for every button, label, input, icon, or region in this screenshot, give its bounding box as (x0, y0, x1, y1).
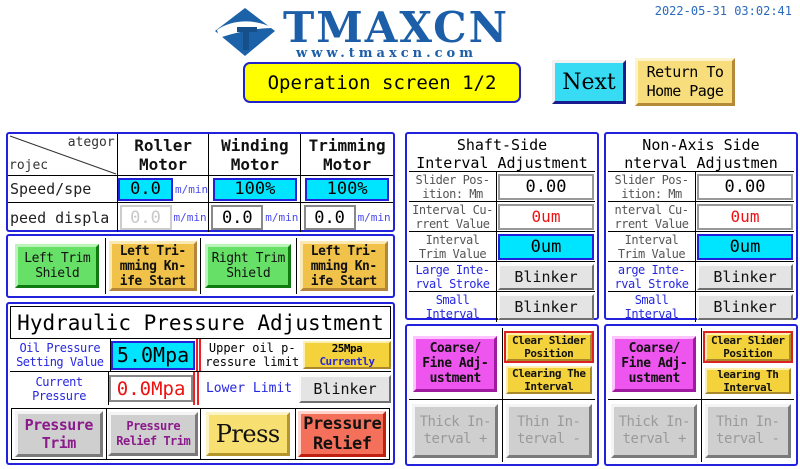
label-nonaxis-interval-current: nterval Cu- rrent Value (608, 202, 696, 231)
column-header-roller-motor: Roller Motor (118, 134, 210, 176)
hydraulic-row-current-pressure: Current Pressure 0.0Mpa Lower Limit Blin… (10, 372, 391, 405)
shaft-small-interval-blinker[interactable]: Blinker (498, 294, 594, 320)
motor-row-speed-display: peed displa 0.0 m/min 0.0 m/min 0.0 m/mi… (8, 203, 393, 232)
motor-parameter-table: ategor rojec Roller Motor Winding Motor … (6, 132, 395, 232)
cell-shaft-slider-position: 0.00 (497, 172, 595, 201)
nonaxis-coarse-fine-adjustment-button[interactable]: Coarse/ Fine Adj- ustment (612, 336, 696, 392)
cell-shaft-interval-trim[interactable]: 0um (497, 232, 595, 261)
btn-line1: Thick In- (619, 414, 690, 431)
shaft-row-interval-trim: Interval Trim Value 0um (409, 232, 595, 262)
tmaxcn-diamond-logo (213, 6, 277, 58)
col-head-line1: Roller (134, 136, 192, 155)
cell-pressure-relief-trim: Pressure Relief Trim (107, 409, 202, 459)
btn-line1: learing Th (717, 368, 778, 381)
btn-line2: terval + (424, 431, 487, 448)
shaft-thick-interval-increase-button[interactable]: Thick In- terval + (412, 404, 498, 458)
trimming-speed-setting-value[interactable]: 100% (305, 178, 389, 201)
btn-line2: terval - (716, 431, 779, 448)
title-line2: Interval Adjustment (416, 154, 588, 172)
cell-pressure-trim: Pressure Trim (12, 409, 107, 459)
non-axis-side-interval-panel: Non-Axis Side nterval Adjustmen Slider P… (604, 132, 798, 320)
label-line2: Trim Value (618, 247, 685, 261)
cell-nonaxis-clear-buttons: Clear Slider Position learing Th Interva… (702, 328, 795, 399)
header-bar: TMAXCN www.tmaxcn.com 2022-05-31 03:02:4… (0, 0, 800, 122)
cell-current-pressure-value: 0.0Mpa (109, 372, 193, 405)
nonaxis-thick-interval-increase-button[interactable]: Thick In- terval + (611, 404, 697, 458)
cell-left-trimming-knife-start: Left Tri- mming Kn- ife Start (106, 238, 202, 294)
column-header-trimming-motor: Trimming Motor (301, 134, 393, 176)
label-line1: Current (36, 375, 83, 389)
cell-winding-speed-display: 0.0 m/min (209, 203, 301, 232)
label-line2: ition: Mm (422, 187, 483, 201)
col-head-line1: Trimming (309, 136, 386, 155)
label-line1: Slider Pos- (416, 173, 490, 187)
shaft-side-interval-panel: Shaft-Side Interval Adjustment Slider Po… (405, 132, 599, 320)
nonaxis-large-interval-blinker[interactable]: Blinker (697, 264, 793, 290)
trimming-speed-display-value: 0.0 (304, 205, 356, 230)
col-head-line2: Motor (139, 155, 187, 174)
shaft-clearing-the-interval-button[interactable]: Clearing The Interval (506, 366, 592, 394)
btn-line2: Position (524, 347, 573, 360)
cell-nonaxis-small-interval-blinker[interactable]: Blinker (696, 292, 794, 322)
nonaxis-clear-slider-position-button[interactable]: Clear Slider Position (705, 333, 791, 361)
label-shaft-large-interval-stroke: Large Inte- rval Stroke (409, 262, 497, 291)
datetime-display: 2022-05-31 03:02:41 (655, 4, 792, 18)
btn-line3: ustment (430, 371, 481, 386)
nonaxis-slider-position-value: 0.00 (697, 174, 793, 200)
label-upper-oil-pressure-limit: Upper oil p- ressure limit (201, 339, 303, 371)
trimming-display-unit: m/min (358, 211, 391, 224)
upper-limit-value: 25Mpa (332, 342, 363, 355)
non-axis-side-button-panel: Coarse/ Fine Adj- ustment Clear Slider P… (604, 324, 798, 466)
btn-line2: terval - (517, 431, 580, 448)
winding-speed-setting-value[interactable]: 100% (213, 178, 297, 201)
btn-line1: Pressure (303, 414, 381, 434)
label-line1: arge Inte- (618, 263, 685, 277)
cell-nonaxis-slider-position: 0.00 (696, 172, 794, 201)
current-pressure-value: 0.0Mpa (109, 375, 193, 402)
btn-line2: terval + (623, 431, 686, 448)
label-line1: Small (635, 293, 669, 307)
cell-shaft-interval-current: 0um (497, 202, 595, 231)
row-label-speed-display: peed displa (8, 203, 118, 232)
label-line2: Pressure (32, 389, 86, 403)
btn-line1: Thin In- (716, 414, 779, 431)
btn-line2: Shield (35, 266, 79, 281)
hydraulic-panel-title: Hydraulic Pressure Adjustment (10, 306, 391, 339)
btn-line1: Press (216, 427, 280, 442)
trimming-control-button-strip: Left Trim Shield Left Tri- mming Kn- ife… (6, 234, 395, 298)
shaft-row-interval-current: Interval Cu- rrent Value 0um (409, 202, 595, 232)
label-line2: rrent Value (615, 217, 689, 231)
label-line2: Setting Value (16, 355, 103, 369)
cell-shaft-large-interval-blinker[interactable]: Blinker (497, 262, 595, 291)
screen-title-banner: Operation screen 1/2 (243, 62, 521, 103)
cell-trimming-speed-display: 0.0 m/min (301, 203, 393, 232)
right-trimming-knife-start-button[interactable]: Left Tri- mming Kn- ife Start (300, 241, 388, 291)
label-nonaxis-small-interval: Small Interval (608, 292, 696, 322)
hmi-screen: TMAXCN www.tmaxcn.com 2022-05-31 03:02:4… (0, 0, 800, 469)
shaft-clear-slider-position-button[interactable]: Clear Slider Position (506, 333, 592, 361)
label-line2: ressure limit (205, 355, 299, 369)
label-line2: rrent Value (416, 217, 490, 231)
label-line2: rval Stroke (615, 277, 689, 291)
shaft-coarse-fine-adjustment-button[interactable]: Coarse/ Fine Adj- ustment (413, 336, 497, 392)
btn-line1: Clear Slider (711, 334, 784, 347)
press-button[interactable]: Press (206, 412, 290, 456)
label-line1: Large Inte- (416, 263, 490, 277)
shaft-large-interval-blinker[interactable]: Blinker (498, 264, 594, 290)
btn-line2: Fine Adj- (621, 356, 687, 371)
motor-table-header-row: ategor rojec Roller Motor Winding Motor … (8, 134, 393, 176)
title-line1: Non-Axis Side (642, 136, 759, 154)
title-line1: Shaft-Side (457, 136, 547, 154)
btn-line2: Trim (42, 434, 76, 452)
upper-limit-sublabel: Currently (319, 355, 374, 368)
table-corner-cell: ategor rojec (8, 134, 118, 176)
roller-display-unit: m/min (174, 211, 207, 224)
cell-shaft-thin-interval: Thin In- terval - (503, 400, 596, 462)
cell-shaft-small-interval-blinker[interactable]: Blinker (497, 292, 595, 322)
label-line1: Interval Cu- (412, 203, 493, 217)
cell-right-trimming-knife-start: Left Tri- mming Kn- ife Start (297, 238, 392, 294)
roller-speed-setting-value[interactable]: 0.0 (118, 178, 173, 201)
corner-category-label: ategor (68, 135, 115, 150)
label-line1: Small (436, 293, 470, 307)
cell-left-trim-shield: Left Trim Shield (10, 238, 106, 294)
row-label-speed-setting: Speed/spe (8, 176, 118, 203)
cell-nonaxis-thick-interval: Thick In- terval + (608, 400, 702, 462)
btn-line1: Coarse/ (629, 341, 680, 356)
btn-line2: Relief Trim (116, 434, 190, 449)
btn-line1: Clear Slider (512, 334, 585, 347)
label-shaft-interval-trim: Interval Trim Value (409, 232, 497, 261)
next-button[interactable]: Next (552, 60, 626, 104)
pressure-trim-button[interactable]: Pressure Trim (15, 411, 103, 457)
return-home-line2: Home Page (647, 82, 724, 101)
label-line2: Interval (625, 307, 679, 321)
cell-right-trim-shield: Right Trim Shield (201, 238, 297, 294)
label-oil-pressure-setting: Oil Pressure Setting Value (10, 339, 111, 371)
cell-pressure-relief: Pressure Relief (296, 409, 390, 459)
return-home-line1: Return To (647, 63, 724, 82)
motor-row-speed-setting: Speed/spe 0.0 m/min 100% 100% (8, 176, 393, 203)
label-line1: Upper oil p- (209, 341, 296, 355)
btn-line1: Coarse/ (430, 341, 481, 356)
label-nonaxis-large-interval-stroke: arge Inte- rval Stroke (608, 262, 696, 291)
shaft-row-large-interval-stroke: Large Inte- rval Stroke Blinker (409, 262, 595, 292)
label-line1: Interval (625, 233, 679, 247)
lower-limit-blinker-indicator[interactable]: Blinker (299, 375, 391, 403)
btn-line2: Position (723, 347, 772, 360)
btn-line2: Interval (524, 380, 573, 393)
hydraulic-row-oil-setting: Oil Pressure Setting Value 5.0Mpa Upper … (10, 339, 391, 372)
label-nonaxis-interval-trim: Interval Trim Value (608, 232, 696, 261)
btn-line1: Clearing The (512, 367, 585, 380)
btn-line3: ife Start (120, 274, 186, 289)
return-home-button[interactable]: Return To Home Page (635, 58, 735, 106)
label-lower-limit: Lower Limit (199, 372, 299, 405)
winding-speed-display-value: 0.0 (211, 205, 263, 230)
non-axis-side-panel-title: Non-Axis Side nterval Adjustmen (608, 136, 794, 172)
hydraulic-button-row: Pressure Trim Pressure Relief Trim Press… (11, 408, 390, 460)
roller-speed-display-value: 0.0 (120, 205, 172, 230)
nonaxis-row-interval-trim: Interval Trim Value 0um (608, 232, 794, 262)
btn-line1: Left Tri- (120, 244, 186, 259)
nonaxis-row-slider-position: Slider Pos- ition: Mm 0.00 (608, 172, 794, 202)
label-current-pressure: Current Pressure (10, 372, 109, 405)
title-line2: nterval Adjustmen (624, 154, 778, 172)
column-header-winding-motor: Winding Motor (209, 134, 301, 176)
cell-nonaxis-large-interval-blinker[interactable]: Blinker (696, 262, 794, 291)
cell-trimming-speed-setting[interactable]: 100% (301, 176, 393, 203)
left-trimming-knife-start-button[interactable]: Left Tri- mming Kn- ife Start (109, 241, 197, 291)
upper-oil-pressure-limit-button[interactable]: 25Mpa Currently (303, 341, 391, 369)
winding-display-unit: m/min (265, 211, 298, 224)
label-shaft-small-interval: Small Interval (409, 292, 497, 322)
corner-project-label: rojec (9, 158, 48, 173)
label-line1: Oil Pressure (19, 341, 100, 355)
nonaxis-interval-current-value: 0um (697, 204, 793, 230)
cell-winding-speed-setting[interactable]: 100% (209, 176, 301, 203)
col-head-line1: Winding (221, 136, 288, 155)
nonaxis-interval-trim-value[interactable]: 0um (697, 234, 793, 260)
btn-line1: Left Tri- (311, 244, 377, 259)
cell-roller-speed-setting[interactable]: 0.0 m/min (118, 176, 210, 203)
btn-line1: Pressure (25, 416, 93, 434)
nonaxis-row-small-interval: Small Interval Blinker (608, 292, 794, 322)
col-head-line2: Motor (231, 155, 279, 174)
brand-name: TMAXCN (283, 4, 509, 52)
nonaxis-small-interval-blinker[interactable]: Blinker (697, 294, 793, 320)
cell-lower-limit-blinker[interactable]: Blinker (299, 372, 391, 405)
brand-url: www.tmaxcn.com (296, 46, 477, 61)
btn-line2: Interval (723, 381, 772, 394)
shaft-interval-current-value: 0um (498, 204, 594, 230)
cell-roller-speed-display: 0.0 m/min (118, 203, 210, 232)
label-line1: nterval Cu- (615, 203, 689, 217)
label-line2: rval Stroke (416, 277, 490, 291)
right-trim-shield-button[interactable]: Right Trim Shield (205, 244, 291, 288)
label-shaft-interval-current: Interval Cu- rrent Value (409, 202, 497, 231)
cell-press: Press (201, 409, 296, 459)
oil-pressure-setting-value[interactable]: 5.0Mpa (111, 341, 195, 370)
btn-line2: mming Kn- (120, 259, 186, 274)
btn-line2: Shield (226, 266, 270, 281)
col-head-line2: Motor (323, 155, 371, 174)
btn-line1: Pressure (126, 419, 180, 434)
shaft-side-button-panel: Coarse/ Fine Adj- ustment Clear Slider P… (405, 324, 599, 466)
label-line1: Slider Pos- (615, 173, 689, 187)
shaft-row-small-interval: Small Interval Blinker (409, 292, 595, 322)
shaft-side-panel-title: Shaft-Side Interval Adjustment (409, 136, 595, 172)
shaft-thin-interval-decrease-button[interactable]: Thin In- terval - (506, 404, 592, 458)
btn-line1: Left Trim (24, 251, 90, 266)
label-line1: Lower Limit (206, 381, 292, 396)
cell-nonaxis-thin-interval: Thin In- terval - (702, 400, 795, 462)
roller-speed-unit: m/min (175, 183, 208, 196)
shaft-slider-position-value: 0.00 (498, 174, 594, 200)
label-line2: Interval (426, 307, 480, 321)
pressure-relief-button[interactable]: Pressure Relief (298, 411, 386, 457)
btn-line3: ife Start (311, 274, 377, 289)
nonaxis-thin-interval-decrease-button[interactable]: Thin In- terval - (705, 404, 791, 458)
btn-line2: Relief (313, 434, 371, 454)
cell-oil-pressure-setting-value[interactable]: 5.0Mpa (111, 339, 196, 371)
btn-line2: Fine Adj- (422, 356, 488, 371)
nonaxis-row-large-interval-stroke: arge Inte- rval Stroke Blinker (608, 262, 794, 292)
label-line2: Trim Value (419, 247, 486, 261)
hydraulic-pressure-panel: Hydraulic Pressure Adjustment Oil Pressu… (6, 302, 395, 465)
cell-nonaxis-interval-trim[interactable]: 0um (696, 232, 794, 261)
cell-nonaxis-interval-current: 0um (696, 202, 794, 231)
shaft-row-slider-position: Slider Pos- ition: Mm 0.00 (409, 172, 595, 202)
cell-upper-limit-button[interactable]: 25Mpa Currently (303, 339, 391, 371)
cell-shaft-coarse-fine: Coarse/ Fine Adj- ustment (409, 328, 503, 399)
label-line2: ition: Mm (621, 187, 682, 201)
btn-line1: Thin In- (517, 414, 580, 431)
btn-line1: Right Trim (212, 251, 285, 266)
btn-line2: mming Kn- (311, 259, 377, 274)
cell-nonaxis-coarse-fine: Coarse/ Fine Adj- ustment (608, 328, 702, 399)
nonaxis-clearing-the-interval-button[interactable]: learing Th Interval (705, 368, 791, 394)
left-trim-shield-button[interactable]: Left Trim Shield (15, 244, 99, 288)
shaft-interval-trim-value[interactable]: 0um (498, 234, 594, 260)
cell-shaft-clear-buttons: Clear Slider Position Clearing The Inter… (503, 328, 596, 399)
label-nonaxis-slider-position: Slider Pos- ition: Mm (608, 172, 696, 201)
nonaxis-row-interval-current: nterval Cu- rrent Value 0um (608, 202, 794, 232)
label-line1: Interval (426, 233, 480, 247)
pressure-relief-trim-button[interactable]: Pressure Relief Trim (108, 412, 198, 456)
label-shaft-slider-position: Slider Pos- ition: Mm (409, 172, 497, 201)
btn-line3: ustment (629, 371, 680, 386)
cell-shaft-thick-interval: Thick In- terval + (409, 400, 503, 462)
btn-line1: Thick In- (420, 414, 491, 431)
